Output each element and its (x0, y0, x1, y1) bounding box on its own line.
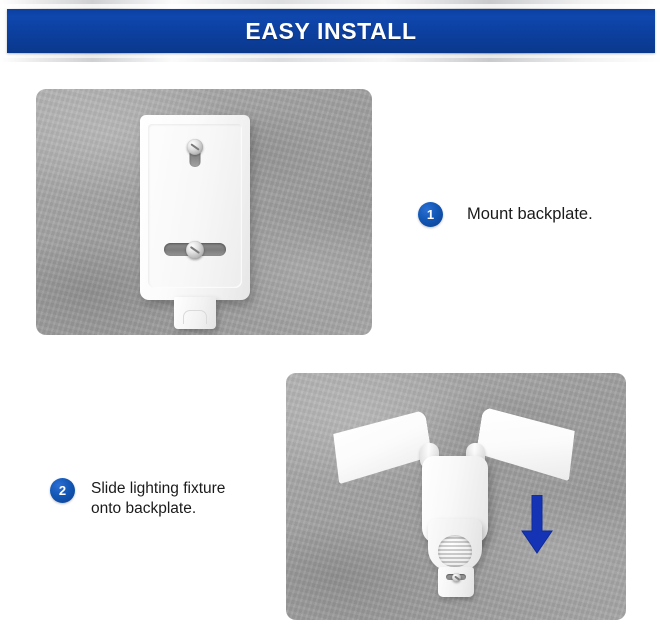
backplate-body (140, 115, 250, 300)
foot-screw-icon (452, 573, 461, 582)
photo-fixture (286, 373, 626, 620)
backplate-bottom-tab (174, 297, 216, 329)
down-arrow-icon (518, 495, 556, 555)
left-lamp-head (330, 410, 434, 484)
step-1-text: Mount backplate. (467, 202, 593, 225)
page-title: EASY INSTALL (245, 18, 416, 45)
screw-top-icon (187, 139, 203, 155)
easy-install-page: EASY INSTALL 1 Mount backplate. 2 Slide … (0, 0, 662, 640)
screw-bottom-icon (186, 241, 204, 259)
step-1-badge: 1 (418, 202, 443, 227)
motion-sensor-housing (428, 519, 482, 571)
right-lamp-head (474, 407, 578, 481)
step-2: 2 Slide lighting fixture onto backplate. (50, 478, 225, 519)
banner-blue-bar: EASY INSTALL (7, 9, 655, 53)
step-1: 1 Mount backplate. (418, 202, 593, 227)
header-banner: EASY INSTALL (0, 0, 662, 62)
step-2-badge: 2 (50, 478, 75, 503)
step-2-text: Slide lighting fixture onto backplate. (91, 478, 225, 519)
mounting-foot (438, 567, 474, 597)
photo-backplate (36, 89, 372, 335)
motion-sensor-lens (438, 535, 472, 567)
